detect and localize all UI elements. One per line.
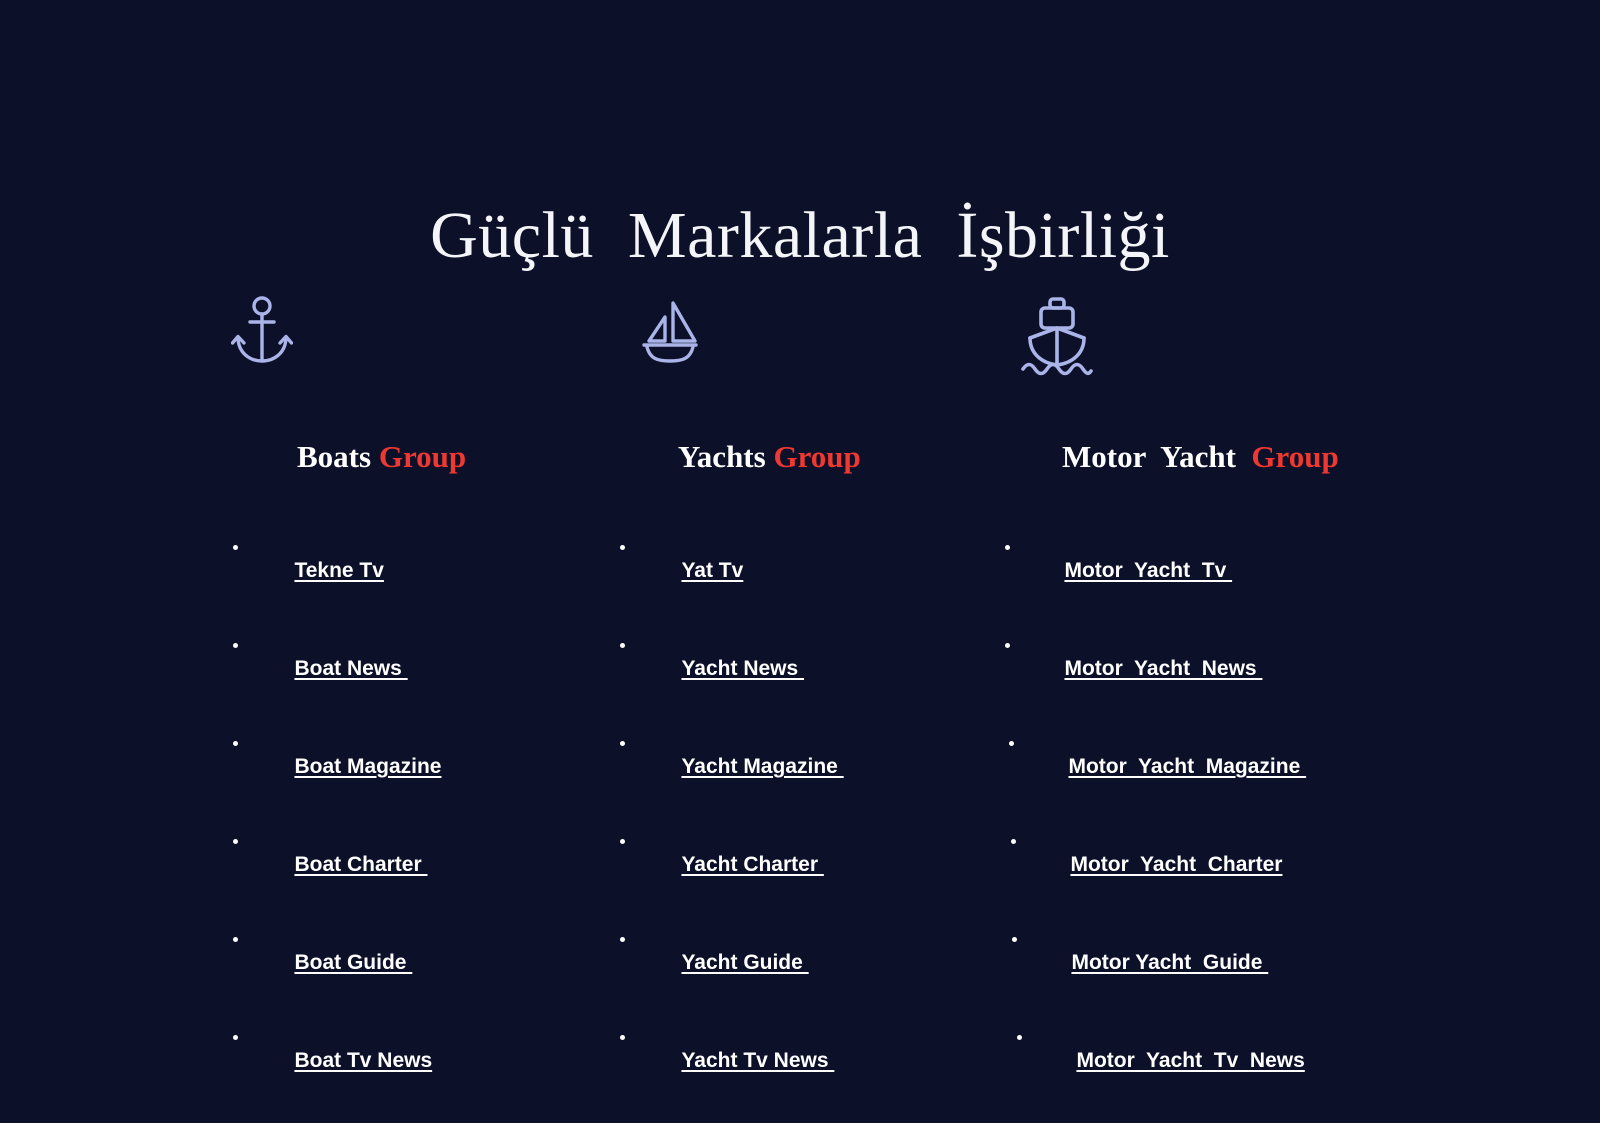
list-item: Tekne Tv <box>225 535 595 609</box>
brand-link[interactable]: Boat Tv News <box>294 1049 432 1072</box>
list-item: Motor Yacht Charter <box>995 829 1415 903</box>
brand-link-list: Tekne Tv Boat News Boat Magazine Boat Ch… <box>225 535 595 1099</box>
brand-link-list: Motor Yacht Tv Motor Yacht News Motor Ya… <box>995 535 1415 1099</box>
brand-group-motor-yacht: Motor Yacht Group Motor Yacht Tv Motor Y… <box>995 295 1415 1123</box>
list-item: Yat Tv <box>612 535 982 609</box>
brand-group-boats: Boats Group Tekne Tv Boat News Boat Maga… <box>225 295 595 1123</box>
group-heading-main: Motor Yacht <box>1062 439 1251 474</box>
brand-link[interactable]: Boat Charter <box>294 853 427 876</box>
list-item: Boat News <box>225 633 595 707</box>
brand-link[interactable]: Yacht Charter <box>681 853 823 876</box>
list-item: Boat Guide <box>225 927 595 1001</box>
ship-icon <box>1017 295 1415 377</box>
list-item: Yacht News <box>612 633 982 707</box>
group-heading-main: Yachts <box>678 439 774 474</box>
brand-link[interactable]: Boat Magazine <box>294 755 441 778</box>
list-item: Yacht Magazine <box>612 731 982 805</box>
list-item: Motor Yacht Tv News <box>995 1025 1415 1099</box>
slide-canvas: Güçlü Markalarla İşbirliği Boats Group <box>0 0 1600 900</box>
brand-link-list: Yat Tv Yacht News Yacht Magazine Yacht C… <box>612 535 982 1099</box>
brand-link[interactable]: Boat News <box>294 657 407 680</box>
list-item: Motor Yacht News <box>995 633 1415 707</box>
brand-link[interactable]: Boat Guide <box>294 951 412 974</box>
list-item: Yacht Charter <box>612 829 982 903</box>
brand-link[interactable]: Motor Yacht Tv <box>1064 559 1232 582</box>
list-item: Boat Charter <box>225 829 595 903</box>
group-heading: Motor Yacht Group <box>995 397 1415 517</box>
brand-link[interactable]: Yat Tv <box>681 559 743 582</box>
list-item: Boat Tv News <box>225 1025 595 1099</box>
group-heading-accent: Group <box>379 439 466 474</box>
brand-group-yachts: Yachts Group Yat Tv Yacht News Yacht Mag… <box>612 295 982 1123</box>
list-item: Boat Magazine <box>225 731 595 805</box>
group-heading-accent: Group <box>1251 439 1338 474</box>
brand-link[interactable]: Motor Yacht Guide <box>1071 951 1268 974</box>
brand-link[interactable]: Motor Yacht News <box>1064 657 1262 680</box>
brand-groups: Boats Group Tekne Tv Boat News Boat Maga… <box>0 295 1600 765</box>
group-heading: Yachts Group <box>612 397 982 517</box>
anchor-icon <box>231 295 595 377</box>
sailboat-icon <box>638 295 982 377</box>
group-heading: Boats Group <box>225 397 595 517</box>
list-item: Motor Yacht Tv <box>995 535 1415 609</box>
brand-link[interactable]: Tekne Tv <box>294 559 383 582</box>
group-heading-accent: Group <box>773 439 860 474</box>
list-item: Motor Yacht Magazine <box>995 731 1415 805</box>
list-item: Yacht Tv News <box>612 1025 982 1099</box>
brand-link[interactable]: Yacht News <box>681 657 804 680</box>
group-heading-main: Boats <box>297 439 379 474</box>
brand-link[interactable]: Motor Yacht Tv News <box>1076 1049 1304 1072</box>
list-item: Motor Yacht Guide <box>995 927 1415 1001</box>
brand-link[interactable]: Yacht Tv News <box>681 1049 834 1072</box>
list-item: Yacht Guide <box>612 927 982 1001</box>
brand-link[interactable]: Motor Yacht Charter <box>1070 853 1282 876</box>
brand-link[interactable]: Yacht Guide <box>681 951 808 974</box>
brand-link[interactable]: Motor Yacht Magazine <box>1068 755 1306 778</box>
brand-link[interactable]: Yacht Magazine <box>681 755 843 778</box>
page-title: Güçlü Markalarla İşbirliği <box>0 196 1600 276</box>
